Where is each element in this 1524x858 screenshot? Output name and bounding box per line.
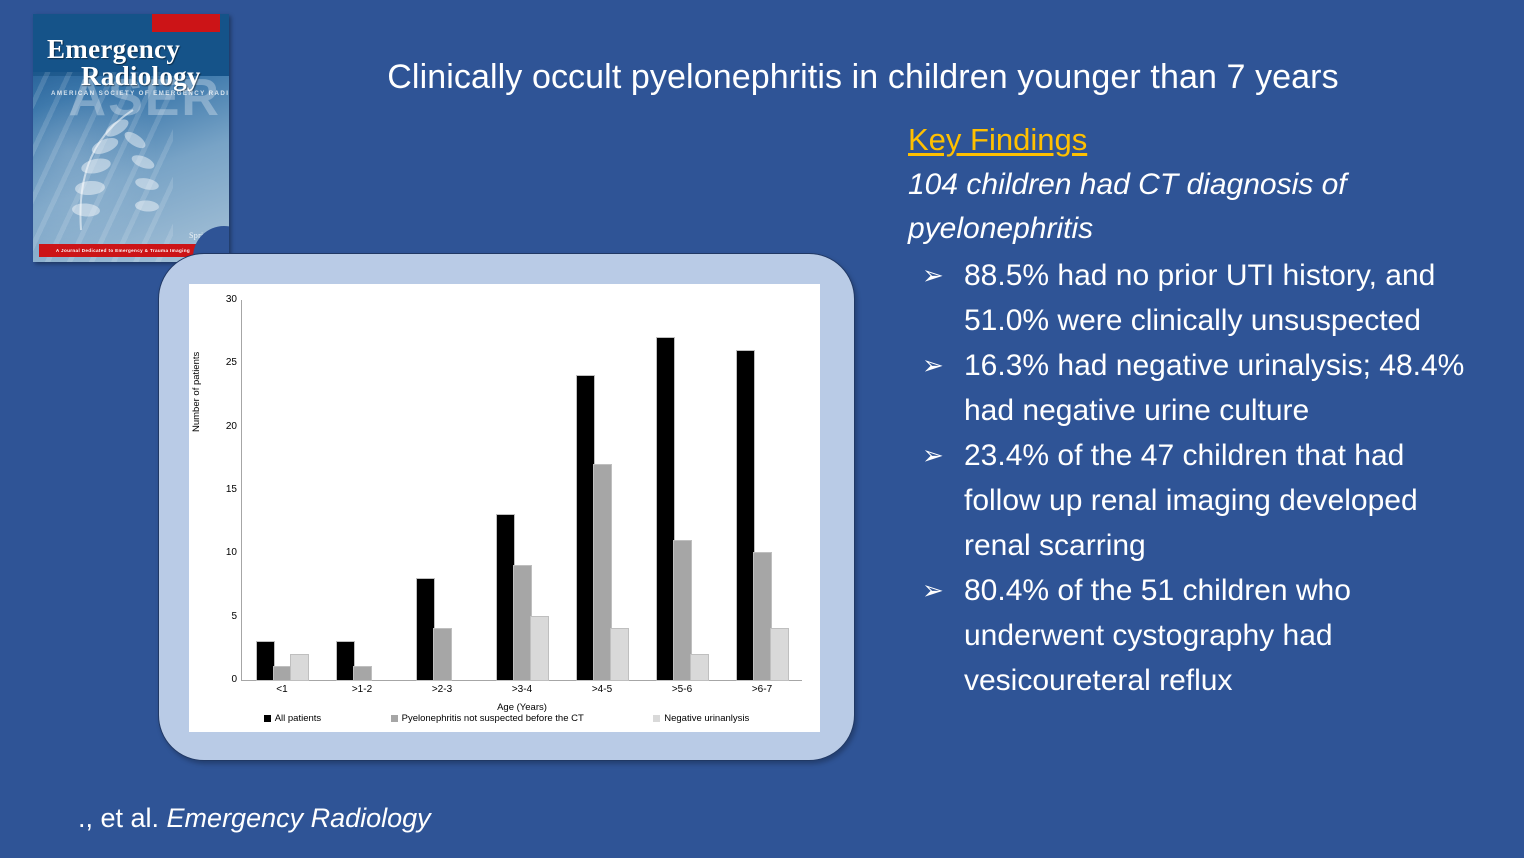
bullet-arrow-icon: ➢ xyxy=(922,253,944,298)
bullet-arrow-icon: ➢ xyxy=(922,568,944,613)
y-tick-label: 25 xyxy=(211,358,237,368)
legend-item: All patients xyxy=(264,713,321,724)
key-finding-item: ➢88.5% had no prior UTI history, and 51.… xyxy=(908,253,1478,343)
cover-bottom-banner: A Journal Dedicated to Emergency & Traum… xyxy=(39,244,207,257)
y-tick-label: 15 xyxy=(211,485,237,495)
bar-group xyxy=(642,300,722,680)
cover-red-tab xyxy=(152,14,220,32)
legend-label: All patients xyxy=(275,713,321,724)
key-finding-text: 16.3% had negative urinalysis; 48.4% had… xyxy=(964,349,1464,427)
cover-society-line: AMERICAN SOCIETY OF EMERGENCY RADIOLOGY xyxy=(51,90,221,97)
bar xyxy=(417,579,434,680)
x-tick-label: >2-3 xyxy=(402,684,482,695)
citation-authors: ., et al. xyxy=(78,803,167,833)
bar-group xyxy=(322,300,402,680)
legend-label: Pyelonephritis not suspected before the … xyxy=(402,713,584,724)
y-tick-label: 30 xyxy=(211,295,237,305)
journal-cover-image: ASER Emergency Radiology AMERICAN SOCIET… xyxy=(33,14,229,262)
key-finding-text: 80.4% of the 51 children who underwent c… xyxy=(964,574,1351,697)
x-tick-label: >3-4 xyxy=(482,684,562,695)
bars-plot-area xyxy=(242,300,802,680)
bar xyxy=(754,553,771,680)
bar-chart: Number of patients 051015202530 <1>1-2>2… xyxy=(189,284,820,732)
chart-legend: All patientsPyelonephritis not suspected… xyxy=(229,713,784,724)
chart-plot-container: Number of patients 051015202530 <1>1-2>2… xyxy=(189,284,820,732)
key-findings-heading: Key Findings xyxy=(908,118,1478,162)
bar xyxy=(737,351,754,680)
key-finding-item: ➢16.3% had negative urinalysis; 48.4% ha… xyxy=(908,343,1478,433)
y-tick-label: 20 xyxy=(211,422,237,432)
bar xyxy=(674,541,691,680)
x-tick-label: >5-6 xyxy=(642,684,722,695)
laurel-wreath-icon xyxy=(55,106,165,236)
legend-swatch xyxy=(264,715,271,722)
bar xyxy=(257,642,274,680)
bar xyxy=(497,515,514,680)
key-finding-text: 23.4% of the 47 children that had follow… xyxy=(964,439,1418,562)
key-finding-item: ➢80.4% of the 51 children who underwent … xyxy=(908,568,1478,703)
bar xyxy=(274,667,291,680)
bar-group xyxy=(402,300,482,680)
x-tick-label: >1-2 xyxy=(322,684,402,695)
x-axis-ticks: <1>1-2>2-3>3-4>4-5>5-6>6-7 xyxy=(242,684,802,695)
x-tick-label: >4-5 xyxy=(562,684,642,695)
legend-item: Negative urinanlysis xyxy=(653,713,749,724)
citation-journal: Emergency Radiology xyxy=(167,803,431,833)
bar xyxy=(434,629,451,680)
bar xyxy=(691,655,708,680)
bar xyxy=(771,629,788,680)
x-axis-line xyxy=(241,680,802,681)
key-finding-item: ➢23.4% of the 47 children that had follo… xyxy=(908,433,1478,568)
key-findings-subtitle: 104 children had CT diagnosis of pyelone… xyxy=(908,163,1478,251)
bar xyxy=(514,566,531,680)
x-tick-label: <1 xyxy=(242,684,322,695)
bar xyxy=(657,338,674,680)
key-findings-list: ➢88.5% had no prior UTI history, and 51.… xyxy=(908,253,1478,703)
bar xyxy=(531,617,548,680)
bar-group xyxy=(242,300,322,680)
y-axis-title: Number of patients xyxy=(191,352,202,432)
y-axis-ticks: 051015202530 xyxy=(207,300,237,680)
y-tick-label: 0 xyxy=(211,675,237,685)
x-tick-label: >6-7 xyxy=(722,684,802,695)
citation: ., et al. Emergency Radiology xyxy=(78,803,431,834)
legend-swatch xyxy=(653,715,660,722)
bar xyxy=(354,667,371,680)
cover-title-line2: Radiology xyxy=(81,61,201,92)
bar-group xyxy=(722,300,802,680)
chart-card: Number of patients 051015202530 <1>1-2>2… xyxy=(158,253,855,761)
slide-title: Clinically occult pyelonephritis in chil… xyxy=(248,56,1478,98)
y-tick-label: 10 xyxy=(211,548,237,558)
key-finding-text: 88.5% had no prior UTI history, and 51.0… xyxy=(964,259,1435,337)
bullet-arrow-icon: ➢ xyxy=(922,433,944,478)
bullet-arrow-icon: ➢ xyxy=(922,343,944,388)
bar-group xyxy=(562,300,642,680)
x-axis-title: Age (Years) xyxy=(242,702,802,713)
bar xyxy=(594,465,611,680)
bar xyxy=(577,376,594,680)
bar-group xyxy=(482,300,562,680)
bar xyxy=(337,642,354,680)
bar xyxy=(611,629,628,680)
bar xyxy=(291,655,308,680)
y-tick-label: 5 xyxy=(211,612,237,622)
key-findings-panel: Key Findings 104 children had CT diagnos… xyxy=(908,118,1478,703)
legend-swatch xyxy=(391,715,398,722)
legend-label: Negative urinanlysis xyxy=(664,713,749,724)
legend-item: Pyelonephritis not suspected before the … xyxy=(391,713,584,724)
